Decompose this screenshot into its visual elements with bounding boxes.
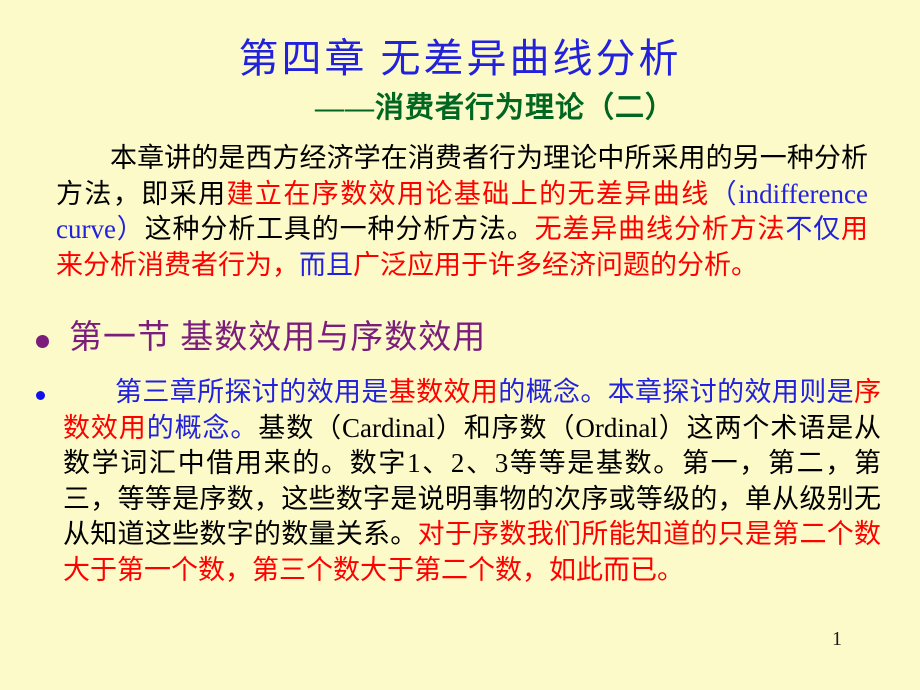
presentation-slide: 第四章 无差异曲线分析 ——消费者行为理论（二） 本章讲的是西方经济学在消费者行… xyxy=(0,0,920,690)
bullet-point-icon xyxy=(36,335,49,348)
text-run-1: 建立在序数效用论基础上的无差异曲线 xyxy=(227,179,710,209)
page-number: 1 xyxy=(832,628,842,651)
text-run-5: 不仅 xyxy=(785,214,841,244)
text-run-1: 基数效用 xyxy=(389,377,498,407)
slide-subtitle: ——消费者行为理论（二） xyxy=(0,88,920,128)
text-run-4: 的概念。 xyxy=(147,413,259,443)
body-paragraph-row: 第三章所探讨的效用是基数效用的概念。本章探讨的效用则是序数效用的概念。基数（Ca… xyxy=(36,375,902,589)
slide-title-block: 第四章 无差异曲线分析 ——消费者行为理论（二） xyxy=(0,34,920,128)
text-run-2: 的概念。本章探讨的效用则是 xyxy=(498,377,854,407)
slide-title: 第四章 无差异曲线分析 xyxy=(0,34,920,84)
text-run-3: 这种分析工具的一种分析方法。 xyxy=(145,214,535,244)
body-paragraph: 第三章所探讨的效用是基数效用的概念。本章探讨的效用则是序数效用的概念。基数（Ca… xyxy=(63,375,881,589)
text-run-4: 无差异曲线分析方法 xyxy=(535,214,786,244)
text-run-7: 而且 xyxy=(299,250,353,280)
bullet-point-icon xyxy=(36,391,45,400)
intro-paragraph: 本章讲的是西方经济学在消费者行为理论中所采用的另一种分析方法，即采用建立在序数效… xyxy=(56,141,868,283)
text-run-8: 广泛应用于许多经济问题的分析。 xyxy=(353,250,758,280)
text-run-0: 第三章所探讨的效用是 xyxy=(115,377,389,407)
section-heading-row: 第一节 基数效用与序数效用 xyxy=(36,315,896,361)
section-heading: 第一节 基数效用与序数效用 xyxy=(69,315,486,361)
